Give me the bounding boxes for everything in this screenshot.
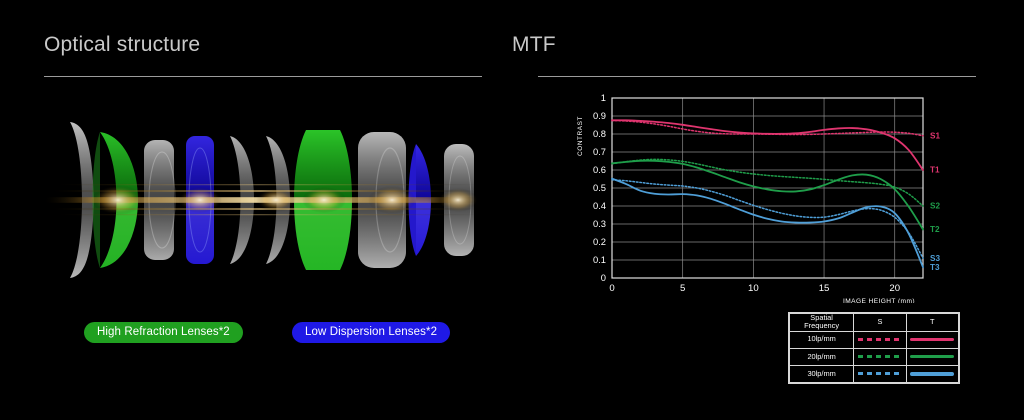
- y-tick-label: 0.5: [593, 182, 606, 193]
- legend-row: 30lp/mm: [790, 365, 959, 382]
- solid-line-swatch: [910, 355, 954, 358]
- curve-t3: [612, 179, 923, 268]
- y-tick-label: 0.1: [593, 254, 606, 265]
- x-tick-label: 20: [889, 283, 900, 294]
- x-tick-label: 5: [680, 283, 685, 294]
- chart-curves: [612, 120, 923, 267]
- y-tick-label: 0.6: [593, 164, 606, 175]
- y-axis-title: CONTRAST: [577, 116, 584, 156]
- legend-s-swatch-cell: [854, 348, 906, 365]
- y-tick-label: 0: [601, 272, 606, 283]
- series-end-labels: S1T1S2T2S3T3: [930, 131, 940, 271]
- legend-frequency-cell: 10lp/mm: [790, 331, 854, 348]
- legend-header-row: Spatial Frequency S T: [790, 314, 959, 332]
- legend-frequency-cell: 20lp/mm: [790, 348, 854, 365]
- series-label-t2: T2: [930, 225, 940, 234]
- mtf-legend-table: Spatial Frequency S T 10lp/mm20lp/mm30lp…: [788, 312, 960, 384]
- legend-s-swatch-cell: [854, 331, 906, 348]
- mtf-title: MTF: [512, 33, 556, 57]
- mtf-title-divider: [538, 76, 976, 77]
- dotted-line-swatch: [858, 355, 902, 358]
- legend-body: 10lp/mm20lp/mm30lp/mm: [790, 331, 959, 382]
- series-label-s3: S3: [930, 254, 940, 263]
- x-tick-label: 15: [819, 283, 830, 294]
- x-axis-tick-labels: 05101520: [609, 283, 900, 294]
- badge-low-dispersion: Low Dispersion Lenses*2: [292, 322, 450, 343]
- legend-header-t: T: [906, 314, 958, 332]
- y-tick-label: 0.4: [593, 200, 606, 211]
- dotted-line-swatch: [858, 338, 902, 341]
- y-tick-label: 0.2: [593, 236, 606, 247]
- y-tick-label: 0.7: [593, 146, 606, 157]
- legend-t-swatch-cell: [906, 331, 958, 348]
- legend-header-frequency-line2: Frequency: [790, 322, 853, 330]
- series-label-t3: T3: [930, 263, 940, 272]
- legend-t-swatch-cell: [906, 365, 958, 382]
- optical-structure-title: Optical structure: [44, 33, 200, 57]
- solid-line-swatch: [910, 338, 954, 341]
- solid-line-swatch: [910, 372, 954, 375]
- mtf-chart: 00.10.20.30.40.50.60.70.80.91 05101520 S…: [560, 88, 1000, 303]
- lens-diagram: [40, 110, 480, 290]
- optical-structure-panel: Optical structure: [0, 0, 512, 420]
- legend-row: 20lp/mm: [790, 348, 959, 365]
- y-axis-tick-labels: 00.10.20.30.40.50.60.70.80.91: [593, 92, 606, 283]
- optical-title-divider: [44, 76, 482, 77]
- x-tick-label: 0: [609, 283, 614, 294]
- x-tick-label: 10: [748, 283, 759, 294]
- y-tick-label: 0.3: [593, 218, 606, 229]
- x-axis-title: IMAGE HEIGHT (mm): [843, 298, 915, 303]
- legend-header-frequency: Spatial Frequency: [790, 314, 854, 332]
- badge-high-refraction: High Refraction Lenses*2: [84, 322, 243, 343]
- series-label-t1: T1: [930, 166, 940, 175]
- legend-t-swatch-cell: [906, 348, 958, 365]
- curve-s2: [612, 159, 923, 206]
- series-label-s2: S2: [930, 202, 940, 211]
- legend-s-swatch-cell: [854, 365, 906, 382]
- mtf-panel: MTF 00.10.20.30.40.50.60.70.80.91 051015…: [512, 0, 1024, 420]
- y-tick-label: 0.8: [593, 128, 606, 139]
- y-tick-label: 1: [601, 92, 606, 103]
- y-tick-label: 0.9: [593, 110, 606, 121]
- legend-header-s: S: [854, 314, 906, 332]
- series-label-s1: S1: [930, 131, 940, 140]
- legend-frequency-cell: 30lp/mm: [790, 365, 854, 382]
- screenshot-root: Optical structure: [0, 0, 1024, 420]
- curve-t1: [612, 120, 923, 170]
- legend-row: 10lp/mm: [790, 331, 959, 348]
- dotted-line-swatch: [858, 372, 902, 375]
